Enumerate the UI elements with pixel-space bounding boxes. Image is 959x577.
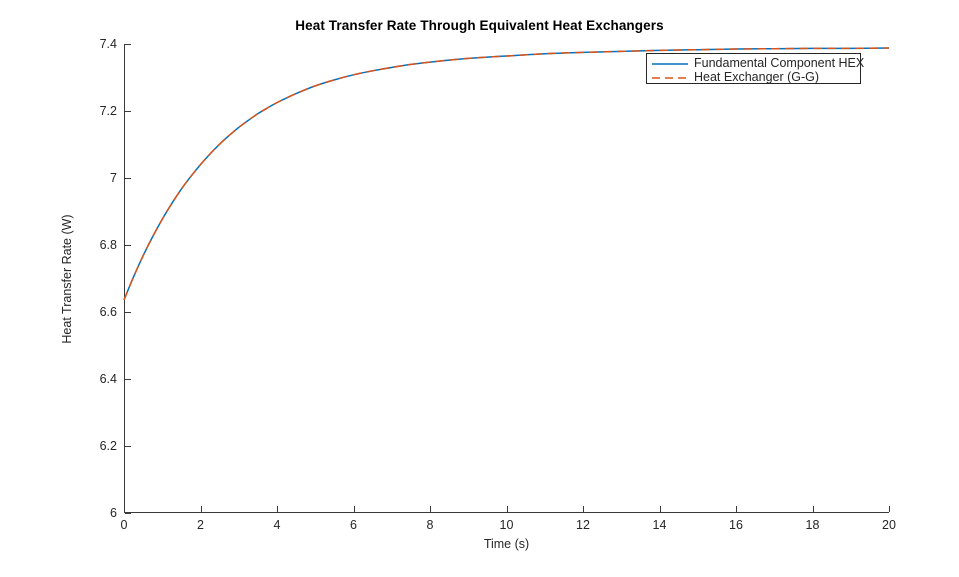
y-tick-label: 6.2 bbox=[100, 439, 117, 453]
y-tick-label: 6.6 bbox=[100, 305, 117, 319]
legend-label-0: Fundamental Component HEX bbox=[694, 57, 864, 70]
x-tick-mark bbox=[889, 506, 890, 512]
series-lines bbox=[124, 44, 889, 513]
x-tick-label: 6 bbox=[350, 518, 357, 532]
legend-label-1: Heat Exchanger (G-G) bbox=[694, 71, 819, 84]
legend-item-0[interactable]: Fundamental Component HEX bbox=[652, 57, 855, 70]
series-line-1 bbox=[124, 48, 889, 300]
x-tick-label: 20 bbox=[882, 518, 896, 532]
x-tick-label: 12 bbox=[576, 518, 590, 532]
x-tick-label: 10 bbox=[500, 518, 514, 532]
page-title: Heat Transfer Rate Through Equivalent He… bbox=[0, 18, 959, 33]
x-tick-label: 4 bbox=[274, 518, 281, 532]
legend-line-swatch-solid bbox=[652, 58, 688, 70]
y-tick-label: 6.8 bbox=[100, 238, 117, 252]
legend-line-swatch-dashed bbox=[652, 72, 688, 84]
y-tick-mark bbox=[125, 513, 131, 514]
x-tick-label: 0 bbox=[121, 518, 128, 532]
plot-axes: 66.26.46.66.877.27.4 02468101214161820 T… bbox=[124, 44, 889, 513]
y-tick-label: 7 bbox=[110, 171, 117, 185]
x-tick-label: 14 bbox=[653, 518, 667, 532]
legend-item-1[interactable]: Heat Exchanger (G-G) bbox=[652, 71, 855, 84]
y-tick-label: 7.4 bbox=[100, 37, 117, 51]
x-tick-label: 16 bbox=[729, 518, 743, 532]
y-tick-label: 6.4 bbox=[100, 372, 117, 386]
x-tick-label: 18 bbox=[806, 518, 820, 532]
y-tick-label: 7.2 bbox=[100, 104, 117, 118]
x-tick-label: 8 bbox=[427, 518, 434, 532]
y-axis-label: Heat Transfer Rate (W) bbox=[60, 214, 74, 343]
legend-box[interactable]: Fundamental Component HEX Heat Exchanger… bbox=[646, 53, 861, 84]
x-tick-label: 2 bbox=[197, 518, 204, 532]
figure-canvas: Heat Transfer Rate Through Equivalent He… bbox=[0, 0, 959, 577]
x-axis-label: Time (s) bbox=[124, 537, 889, 551]
series-line-0 bbox=[124, 48, 889, 300]
y-tick-label: 6 bbox=[110, 506, 117, 520]
